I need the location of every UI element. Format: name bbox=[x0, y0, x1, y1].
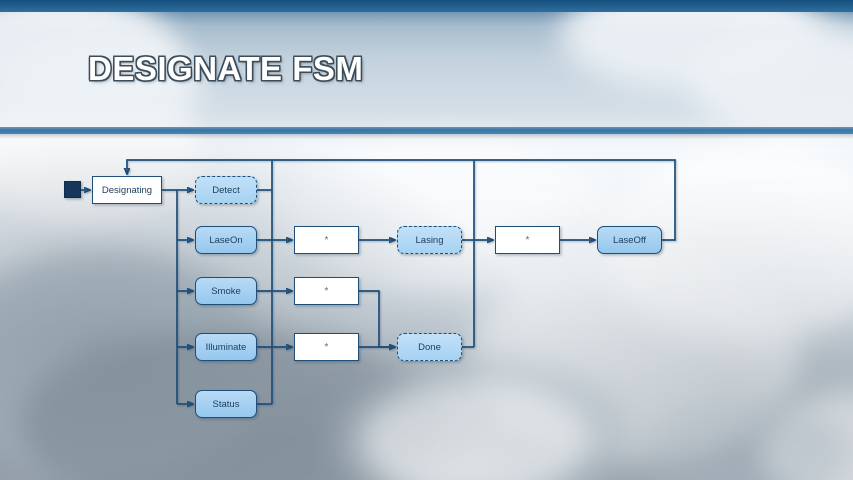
node-illuminate[interactable]: Illuminate bbox=[195, 333, 257, 361]
node-label: Detect bbox=[212, 185, 239, 196]
node-laseon[interactable]: LaseOn bbox=[195, 226, 257, 254]
node-star-2[interactable]: * bbox=[294, 277, 359, 305]
node-label: * bbox=[526, 235, 530, 246]
fsm-diagram: Designating Detect LaseOn Smoke Illumina… bbox=[0, 0, 853, 480]
node-laseoff[interactable]: LaseOff bbox=[597, 226, 662, 254]
node-label: LaseOff bbox=[613, 235, 646, 246]
node-label: Done bbox=[418, 342, 441, 353]
initial-state-marker bbox=[64, 181, 81, 198]
node-smoke[interactable]: Smoke bbox=[195, 277, 257, 305]
node-label: Illuminate bbox=[206, 342, 247, 353]
slide-canvas: DESIGNATE FSM bbox=[0, 0, 853, 480]
node-designating[interactable]: Designating bbox=[92, 176, 162, 204]
node-lasing[interactable]: Lasing bbox=[397, 226, 462, 254]
node-label: * bbox=[325, 235, 329, 246]
node-label: Smoke bbox=[211, 286, 241, 297]
node-star-1[interactable]: * bbox=[294, 226, 359, 254]
node-label: * bbox=[325, 286, 329, 297]
node-label: Lasing bbox=[416, 235, 444, 246]
node-star-4[interactable]: * bbox=[495, 226, 560, 254]
node-label: LaseOn bbox=[209, 235, 242, 246]
node-label: Designating bbox=[102, 185, 152, 196]
node-done[interactable]: Done bbox=[397, 333, 462, 361]
node-status[interactable]: Status bbox=[195, 390, 257, 418]
node-label: * bbox=[325, 342, 329, 353]
node-detect[interactable]: Detect bbox=[195, 176, 257, 204]
node-label: Status bbox=[213, 399, 240, 410]
node-star-3[interactable]: * bbox=[294, 333, 359, 361]
